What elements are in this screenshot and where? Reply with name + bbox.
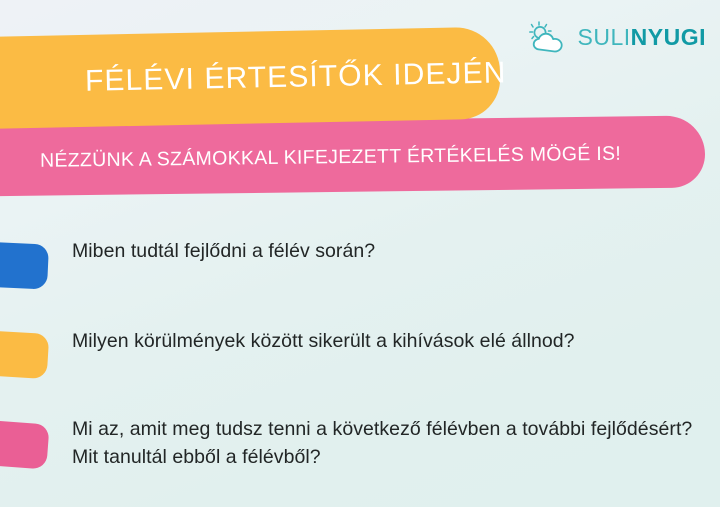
question-list: Miben tudtál fejlődni a félév során? Mil… [0,232,720,471]
list-item: Mi az, amit meg tudsz tenni a következő … [0,416,720,471]
page-title: FÉLÉVI ÉRTESÍTŐK IDEJÉN [39,29,511,126]
bullet-marker-blue-icon [0,241,49,289]
question-text: Milyen körülmények között sikerült a kih… [72,328,575,356]
question-text: Miben tudtál fejlődni a félév során? [72,238,375,266]
poster-canvas: SULINYUGI FÉLÉVI ÉRTESÍTŐK IDEJÉN NÉZZÜN… [0,0,720,507]
bullet-marker-pink-icon [0,419,50,469]
bullet-marker-orange-icon [0,330,49,379]
brand-logo: SULINYUGI [529,20,706,54]
question-text: Mi az, amit meg tudsz tenni a következő … [72,416,706,471]
list-item: Miben tudtál fejlődni a félév során? [0,238,720,284]
brand-wordmark: SULINYUGI [578,26,706,49]
sun-behind-cloud-icon [529,20,571,54]
brand-name-light: SULI [578,24,631,50]
page-subtitle: NÉZZÜNK A SZÁMOKKAL KIFEJEZETT ÉRTÉKELÉS… [0,118,700,197]
brand-name-bold: NYUGI [631,24,706,50]
list-item: Milyen körülmények között sikerült a kih… [0,328,720,374]
